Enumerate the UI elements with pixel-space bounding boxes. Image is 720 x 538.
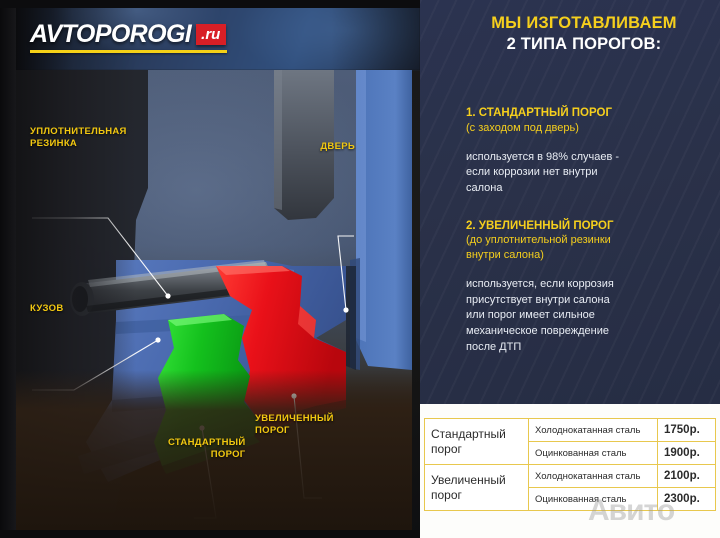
price-value: 2100р. — [658, 465, 716, 488]
info-panel: МЫ ИЗГОТАВЛИВАЕМ 2 ТИПА ПОРОГОВ: 1. СТАН… — [420, 0, 720, 538]
heading-line-1: МЫ ИЗГОТАВЛИВАЕМ — [464, 14, 704, 33]
price-type-standard: Стандартный порог — [425, 419, 529, 465]
block-title-standard: 1. СТАНДАРТНЫЙ ПОРОГ — [466, 106, 706, 121]
logo-domain-badge: .ru — [196, 24, 226, 45]
block-title-increased: 2. УВЕЛИЧЕННЫЙ ПОРОГ — [466, 219, 706, 234]
price-material: Холоднокатанная сталь — [529, 465, 658, 488]
block-subtitle-standard: (с заходом под дверь) — [466, 121, 706, 136]
panel-top-edge — [0, 0, 420, 8]
logo-wordmark: AVTOPOROGI — [30, 22, 191, 47]
price-value: 2300р. — [658, 488, 716, 511]
callout-label-body: КУЗОВ — [30, 303, 64, 315]
callout-label-increased-sill: УВЕЛИЧЕННЫЙ ПОРОГ — [255, 413, 334, 437]
callout-label-standard-sill: СТАНДАРТНЫЙ ПОРОГ — [168, 437, 245, 461]
site-logo[interactable]: AVTOPOROGI .ru — [30, 22, 227, 53]
panel-bottom-edge — [0, 530, 420, 538]
price-material: Оцинкованная сталь — [529, 488, 658, 511]
block-subtitle-increased: (до уплотнительной резинки внутри салона… — [466, 233, 706, 263]
table-row: Увеличенный порог Холоднокатанная сталь … — [425, 465, 716, 488]
illustration-panel: AVTOPOROGI .ru — [0, 0, 420, 538]
price-material: Холоднокатанная сталь — [529, 419, 658, 442]
sill-type-block-standard: 1. СТАНДАРТНЫЙ ПОРОГ (с заходом под двер… — [466, 106, 706, 197]
price-value: 1750р. — [658, 419, 716, 442]
sill-type-block-increased: 2. УВЕЛИЧЕННЫЙ ПОРОГ (до уплотнительной … — [466, 219, 706, 356]
logo-underline — [30, 50, 227, 53]
block-text-increased: используется, если коррозия присутствует… — [466, 277, 706, 355]
price-type-increased: Увеличенный порог — [425, 465, 529, 511]
info-panel-content: МЫ ИЗГОТАВЛИВАЕМ 2 ТИПА ПОРОГОВ: 1. СТАН… — [420, 0, 720, 404]
panel-left-edge — [0, 0, 16, 538]
price-material: Оцинкованная сталь — [529, 442, 658, 465]
price-table: Стандартный порог Холоднокатанная сталь … — [424, 418, 716, 511]
block-text-standard: используется в 98% случаев - если корроз… — [466, 150, 706, 197]
callout-label-sealing-rubber: УПЛОТНИТЕЛЬНАЯ РЕЗИНКА — [30, 126, 127, 150]
table-row: Стандартный порог Холоднокатанная сталь … — [425, 419, 716, 442]
heading-line-2: 2 ТИПА ПОРОГОВ: — [464, 35, 704, 54]
price-table-container: Стандартный порог Холоднокатанная сталь … — [424, 418, 716, 511]
page-root: AVTOPOROGI .ru — [0, 0, 720, 538]
price-value: 1900р. — [658, 442, 716, 465]
panel-heading: МЫ ИЗГОТАВЛИВАЕМ 2 ТИПА ПОРОГОВ: — [464, 14, 704, 54]
callout-label-door: ДВЕРЬ — [320, 141, 355, 153]
